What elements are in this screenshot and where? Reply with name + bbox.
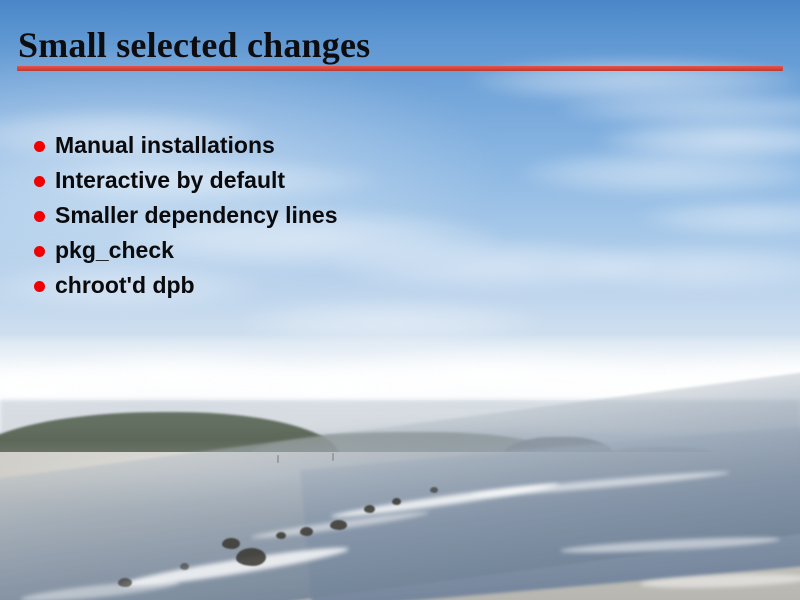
shore-rock: [276, 532, 286, 539]
shore-rock: [392, 498, 401, 505]
list-item-label: Smaller dependency lines: [55, 198, 338, 233]
shore-rock: [330, 520, 347, 530]
shore-rock: [180, 563, 189, 570]
bullet-dot-icon: [34, 246, 45, 257]
title-underline-rule: [17, 66, 783, 71]
slide-title: Small selected changes: [18, 24, 370, 66]
bullet-dot-icon: [34, 141, 45, 152]
shore-rock: [236, 548, 266, 566]
bullet-dot-icon: [34, 281, 45, 292]
list-item: Interactive by default: [34, 163, 654, 198]
shore-rock: [118, 578, 132, 587]
bullet-dot-icon: [34, 176, 45, 187]
bullet-list: Manual installations Interactive by defa…: [34, 128, 654, 303]
list-item: Manual installations: [34, 128, 654, 163]
shore-rock: [364, 505, 375, 513]
list-item: Smaller dependency lines: [34, 198, 654, 233]
slide: Small selected changes Manual installati…: [0, 0, 800, 600]
shore-rock: [300, 527, 313, 536]
list-item-label: chroot'd dpb: [55, 268, 195, 303]
list-item-label: pkg_check: [55, 233, 174, 268]
list-item-label: Manual installations: [55, 128, 275, 163]
list-item-label: Interactive by default: [55, 163, 285, 198]
list-item: chroot'd dpb: [34, 268, 654, 303]
shore-rock: [222, 538, 240, 549]
bullet-dot-icon: [34, 211, 45, 222]
shore-rock: [430, 487, 438, 493]
list-item: pkg_check: [34, 233, 654, 268]
